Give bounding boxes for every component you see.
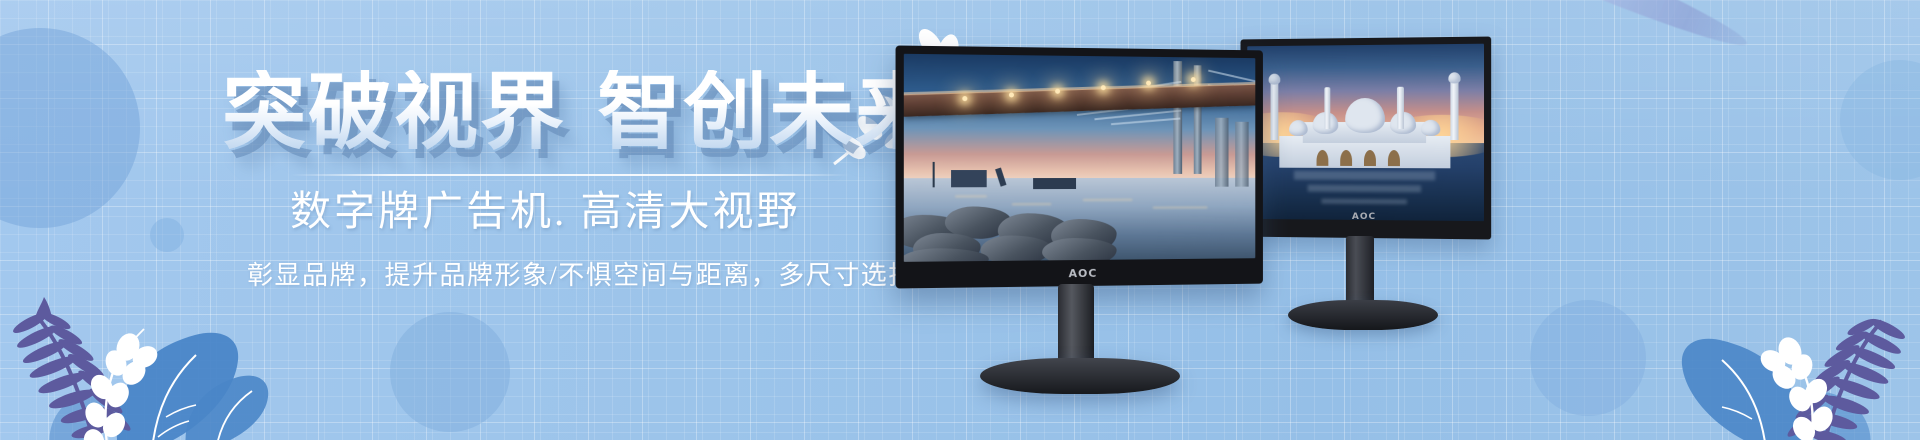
monitor-front-panel: AOC xyxy=(896,46,1263,289)
monitor-back: AOC xyxy=(1238,38,1490,338)
monitor-front-stand-neck xyxy=(1058,284,1094,366)
mosque-scene-image xyxy=(1247,44,1484,221)
monitor-front: AOC xyxy=(898,48,1268,393)
monitor-back-stand-base xyxy=(1288,300,1438,330)
monitor-back-brand-logo: AOC xyxy=(1238,212,1490,222)
bridge-scene-image xyxy=(904,54,1255,262)
monitor-back-panel xyxy=(1240,37,1491,240)
monitor-front-stand-base xyxy=(980,358,1180,394)
monitor-front-screen xyxy=(904,54,1255,262)
foreground-rocks xyxy=(904,186,1125,261)
product-images: AOC xyxy=(0,0,1920,440)
monitor-front-brand-logo: AOC xyxy=(896,265,1263,282)
promo-banner: 突破视界 智创未来 数字牌广告机. 高清大视野 彰显品牌，提升品牌形象/不惧空间… xyxy=(0,0,1920,440)
monitor-back-screen xyxy=(1247,44,1484,221)
monitor-back-stand-neck xyxy=(1346,236,1374,308)
